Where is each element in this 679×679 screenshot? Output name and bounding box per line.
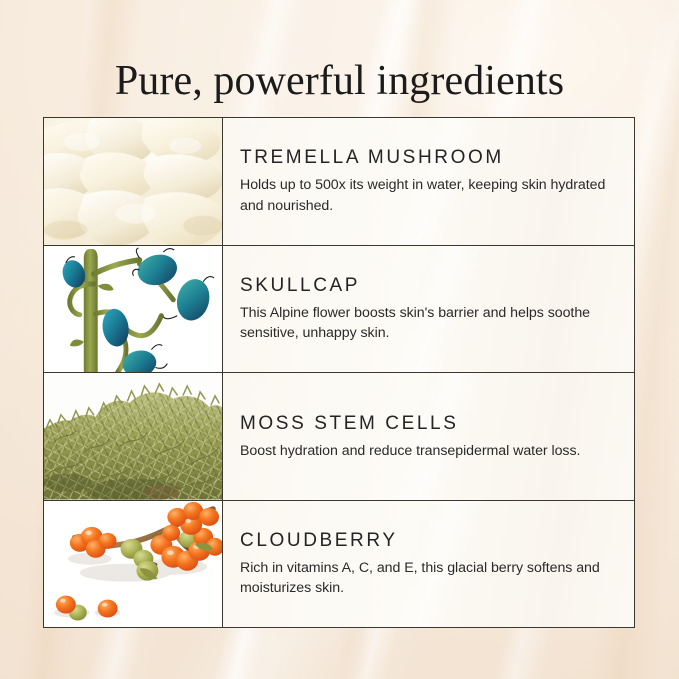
ingredient-image-cloudberry: [44, 501, 223, 628]
cloudberry-icon: [44, 501, 222, 628]
ingredients-table: TREMELLA MUSHROOM Holds up to 500x its w…: [43, 117, 635, 628]
ingredient-description: Boost hydration and reduce transepiderma…: [240, 441, 612, 462]
skullcap-flower-icon: [44, 246, 222, 373]
ingredient-name: CLOUDBERRY: [240, 529, 612, 553]
ingredient-text-tremella-mushroom: TREMELLA MUSHROOM Holds up to 500x its w…: [223, 118, 634, 245]
ingredient-description: Holds up to 500x its weight in water, ke…: [240, 175, 612, 216]
ingredients-infographic: Pure, powerful ingredients: [0, 0, 679, 679]
ingredient-text-moss-stem-cells: MOSS STEM CELLS Boost hydration and redu…: [223, 373, 634, 500]
page-title: Pure, powerful ingredients: [0, 55, 679, 107]
ingredient-name: MOSS STEM CELLS: [240, 412, 612, 436]
ingredient-text-skullcap: SKULLCAP This Alpine flower boosts skin'…: [223, 246, 634, 373]
ingredient-name: SKULLCAP: [240, 274, 612, 298]
ingredient-description: Rich in vitamins A, C, and E, this glaci…: [240, 558, 612, 599]
ingredient-name: TREMELLA MUSHROOM: [240, 146, 612, 170]
ingredient-text-cloudberry: CLOUDBERRY Rich in vitamins A, C, and E,…: [223, 501, 634, 628]
table-row: TREMELLA MUSHROOM Holds up to 500x its w…: [44, 118, 634, 246]
ingredient-image-moss-stem-cells: [44, 373, 223, 500]
ingredient-description: This Alpine flower boosts skin's barrier…: [240, 303, 612, 344]
table-row: CLOUDBERRY Rich in vitamins A, C, and E,…: [44, 501, 634, 628]
table-row: MOSS STEM CELLS Boost hydration and redu…: [44, 373, 634, 501]
ingredient-image-skullcap: [44, 246, 223, 373]
tremella-mushroom-icon: [44, 118, 222, 245]
ingredient-image-tremella-mushroom: [44, 118, 223, 245]
table-row: SKULLCAP This Alpine flower boosts skin'…: [44, 246, 634, 374]
moss-icon: [44, 373, 222, 500]
